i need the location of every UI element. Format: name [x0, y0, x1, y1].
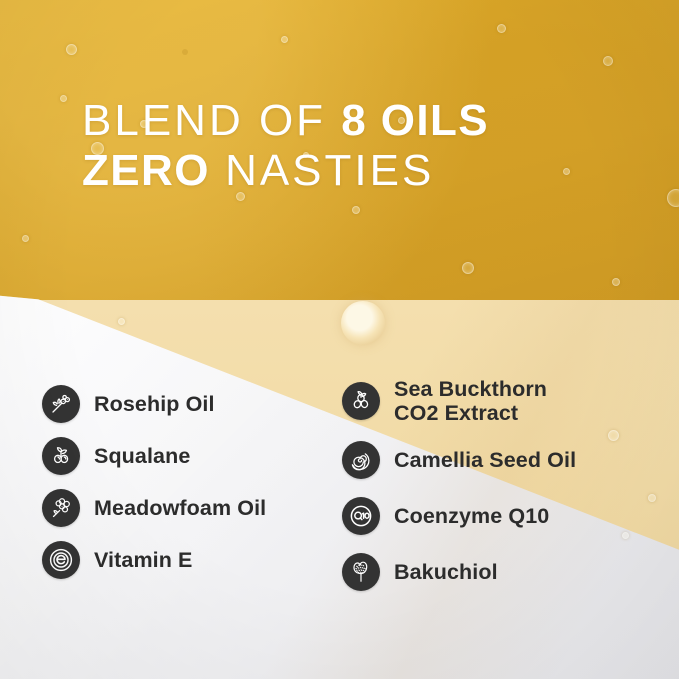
ingredient-label: Sea BuckthornCO2 Extract — [394, 377, 547, 425]
sea-buckthorn-berries-icon — [342, 382, 380, 420]
ingredient-label: Bakuchiol — [394, 560, 498, 584]
ingredient-label: Squalane — [94, 444, 190, 468]
headline-zero: ZERO — [82, 146, 210, 195]
list-item: Camellia Seed Oil — [342, 432, 662, 488]
product-ingredient-infographic: BLEND OF 8 OILS ZERO NASTIES Rosehip — [0, 0, 679, 679]
headline-8-oils: 8 OILS — [341, 96, 489, 145]
ingredient-label-line-2: CO2 Extract — [394, 401, 518, 425]
list-item: Vitamin E — [42, 534, 342, 586]
ingredient-label: Vitamin E — [94, 548, 192, 572]
ingredient-label-line-1: Sea Buckthorn — [394, 377, 547, 401]
headline-line-2: ZERO NASTIES — [82, 146, 642, 196]
ingredient-column-right: Sea BuckthornCO2 Extract Camellia Seed O… — [342, 370, 662, 600]
ingredient-column-left: Rosehip Oil Squalane — [42, 378, 342, 586]
headline-blend-of: BLEND OF — [82, 96, 326, 145]
bakuchiol-seedhead-icon — [342, 553, 380, 591]
rosehip-branch-icon — [42, 385, 80, 423]
ingredient-label: Camellia Seed Oil — [394, 448, 576, 472]
meadowfoam-flower-icon — [42, 489, 80, 527]
ingredient-label: Rosehip Oil — [94, 392, 215, 416]
headline-nasties: NASTIES — [225, 146, 434, 195]
list-item: Sea BuckthornCO2 Extract — [342, 370, 662, 432]
list-item: Bakuchiol — [342, 544, 662, 600]
ingredient-label: Meadowfoam Oil — [94, 496, 266, 520]
q10-badge-icon — [342, 497, 380, 535]
headline-line-1: BLEND OF 8 OILS — [82, 96, 642, 146]
olive-berries-icon — [42, 437, 80, 475]
list-item: Coenzyme Q10 — [342, 488, 662, 544]
vitamin-e-circle-icon — [42, 541, 80, 579]
camellia-rose-icon — [342, 441, 380, 479]
list-item: Squalane — [42, 430, 342, 482]
headline: BLEND OF 8 OILS ZERO NASTIES — [82, 96, 642, 195]
list-item: Meadowfoam Oil — [42, 482, 342, 534]
list-item: Rosehip Oil — [42, 378, 342, 430]
ingredient-label: Coenzyme Q10 — [394, 504, 549, 528]
